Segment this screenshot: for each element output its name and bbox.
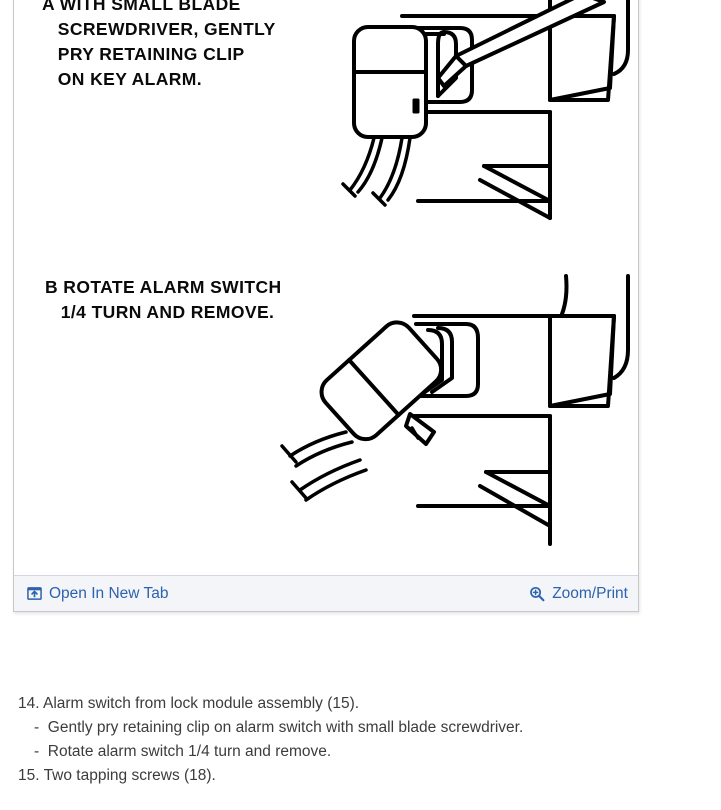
zoom-print-button[interactable]: Zoom/Print	[529, 585, 628, 603]
open-in-new-tab-label: Open In New Tab	[49, 585, 168, 603]
diagram-image[interactable]: A WITH SMALL BLADE SCREWDRIVER, GENTLY P…	[14, 0, 638, 575]
diagram-caption-a: A WITH SMALL BLADE SCREWDRIVER, GENTLY P…	[42, 0, 276, 92]
page-root: A WITH SMALL BLADE SCREWDRIVER, GENTLY P…	[0, 0, 721, 810]
instruction-list: 14. Alarm switch from lock module assemb…	[0, 692, 721, 788]
image-viewer-panel: A WITH SMALL BLADE SCREWDRIVER, GENTLY P…	[13, 0, 639, 612]
instruction-item: 14. Alarm switch from lock module assemb…	[0, 692, 721, 716]
magnifier-plus-icon	[529, 586, 545, 602]
instruction-item: 15. Two tapping screws (18).	[0, 764, 721, 788]
instruction-item: - Rotate alarm switch 1/4 turn and remov…	[0, 740, 721, 764]
image-viewer-toolbar: Open In New Tab Zoom/Print	[14, 575, 638, 611]
instruction-item: - Gently pry retaining clip on alarm swi…	[0, 716, 721, 740]
diagram-caption-b: B ROTATE ALARM SWITCH 1/4 TURN AND REMOV…	[45, 275, 282, 325]
open-in-new-tab-button[interactable]: Open In New Tab	[27, 585, 168, 603]
zoom-print-label: Zoom/Print	[552, 585, 628, 603]
open-in-new-tab-icon	[27, 586, 42, 601]
